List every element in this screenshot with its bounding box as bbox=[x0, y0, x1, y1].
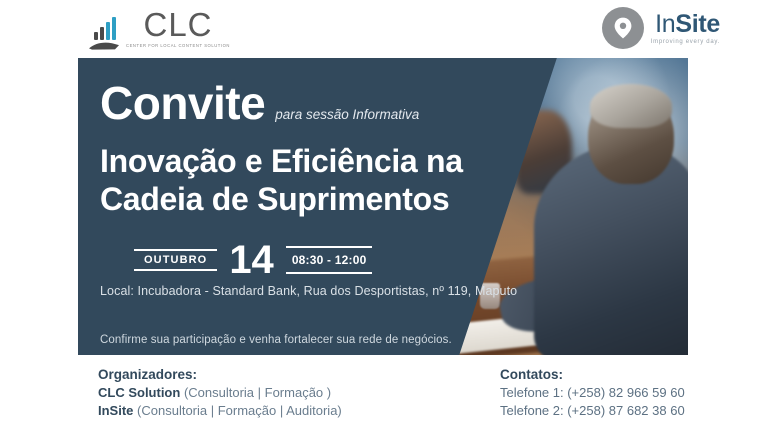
insite-logo: InSite Improving every day. bbox=[602, 7, 720, 49]
contact-phone-1[interactable]: Telefone 1: (+258) 82 966 59 60 bbox=[500, 384, 685, 402]
insite-word-light: In bbox=[655, 10, 675, 38]
event-time: 08:30 - 12:00 bbox=[292, 253, 367, 267]
organizer-item: CLC Solution (Consultoria | Formação ) bbox=[98, 384, 342, 402]
headline-subtitle: para sessão Informativa bbox=[275, 107, 419, 122]
organizers-block: Organizadores: CLC Solution (Consultoria… bbox=[98, 366, 342, 420]
event-month-box: OUTUBRO bbox=[134, 249, 217, 271]
event-location: Local: Incubadora - Standard Bank, Rua d… bbox=[100, 284, 517, 298]
clc-wordmark: CLC bbox=[143, 8, 212, 41]
organizers-heading: Organizadores: bbox=[98, 366, 342, 384]
insite-badge bbox=[602, 7, 644, 49]
event-title-line-2: Cadeia de Suprimentos bbox=[100, 180, 463, 218]
insite-tagline: Improving every day. bbox=[651, 39, 720, 45]
event-confirm-note: Confirme sua participação e venha fortal… bbox=[100, 334, 452, 346]
organizer-name: CLC Solution bbox=[98, 385, 180, 400]
hand-icon bbox=[88, 41, 120, 50]
page-title: Convite bbox=[100, 80, 265, 126]
bar-4 bbox=[112, 17, 116, 40]
headline-row: Convite para sessão Informativa bbox=[100, 80, 419, 126]
contacts-block: Contatos: Telefone 1: (+258) 82 966 59 6… bbox=[500, 366, 685, 420]
event-title-line-1: Inovação e Eficiência na bbox=[100, 143, 463, 179]
event-title: Inovação e Eficiência na Cadeia de Supri… bbox=[100, 142, 463, 218]
foreground-person-hair bbox=[590, 84, 672, 128]
contact-phone-2[interactable]: Telefone 2: (+258) 87 682 38 60 bbox=[500, 402, 685, 420]
insite-word-bold: Site bbox=[675, 10, 720, 38]
event-time-box: 08:30 - 12:00 bbox=[286, 246, 373, 274]
invitation-banner: Convite para sessão Informativa Inovação… bbox=[78, 58, 688, 355]
event-date-row: OUTUBRO 14 08:30 - 12:00 bbox=[134, 240, 372, 280]
insite-wordmark: InSite bbox=[655, 12, 720, 37]
bar-2 bbox=[100, 27, 104, 40]
bar-chart-icon bbox=[94, 18, 116, 40]
clc-logo: CLC CENTER FOR LOCAL CONTENT SOLUTION bbox=[88, 8, 230, 52]
event-month: OUTUBRO bbox=[144, 254, 207, 266]
clc-bar-chart-hand-icon bbox=[88, 16, 122, 52]
clc-tagline: CENTER FOR LOCAL CONTENT SOLUTION bbox=[126, 43, 230, 48]
logo-bar: CLC CENTER FOR LOCAL CONTENT SOLUTION In… bbox=[0, 0, 768, 58]
organizer-item: InSite (Consultoria | Formação | Auditor… bbox=[98, 402, 342, 420]
footer: Organizadores: CLC Solution (Consultoria… bbox=[0, 360, 768, 432]
bar-1 bbox=[94, 32, 98, 40]
organizer-name: InSite bbox=[98, 403, 133, 418]
event-day: 14 bbox=[229, 240, 274, 280]
bar-3 bbox=[106, 22, 110, 40]
organizer-detail: (Consultoria | Formação ) bbox=[184, 385, 331, 400]
location-pin-icon bbox=[614, 17, 632, 39]
organizer-detail: (Consultoria | Formação | Auditoria) bbox=[137, 403, 342, 418]
contacts-heading: Contatos: bbox=[500, 366, 685, 384]
